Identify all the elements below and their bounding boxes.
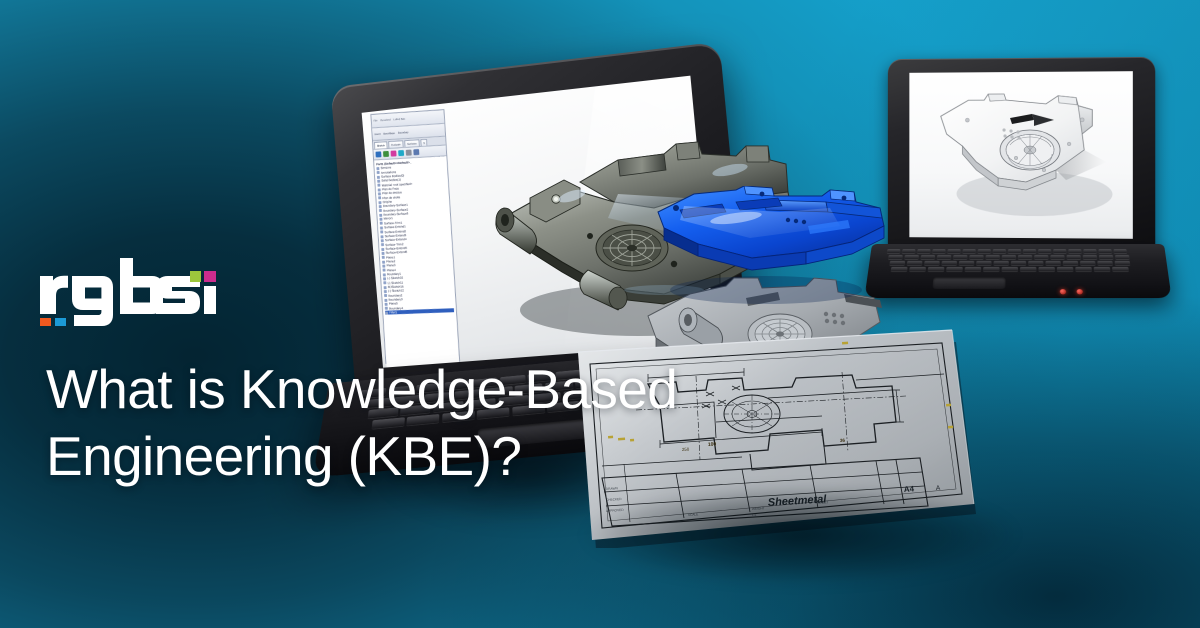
logo-square-blue <box>55 318 66 326</box>
keyboard-key <box>1115 255 1130 259</box>
keyboard-key <box>902 249 916 253</box>
logo-letter-r <box>40 276 68 314</box>
keyboard-key <box>976 261 991 265</box>
keyboard-key <box>907 261 923 265</box>
keyboard-key <box>978 249 991 253</box>
tab-surfaces[interactable]: Surfaces <box>404 139 420 147</box>
keyboard-key <box>953 255 967 259</box>
keyboard-key <box>1018 255 1032 259</box>
keyboard-key <box>1083 249 1096 253</box>
keyboard-key <box>1039 267 1056 271</box>
page-title: What is Knowledge-Based Engineering (KBE… <box>46 356 806 489</box>
cad-menu-item[interactable]: Boundary <box>398 131 409 135</box>
logo-letter-i-stem <box>204 286 216 314</box>
keyboard-key <box>1046 261 1061 265</box>
cad-menu-item[interactable]: Lofted Bas <box>393 118 405 122</box>
display-manager-icon[interactable] <box>406 150 412 156</box>
tab-more[interactable]: S <box>420 139 428 146</box>
keyboard-key <box>1020 267 1036 271</box>
keyboard-key <box>917 249 930 253</box>
cad-tree-item-label: Fillet1 <box>389 310 397 315</box>
keyboard-key <box>1098 249 1111 253</box>
secondary-laptop-trackpad <box>932 277 1005 289</box>
keyboard-key <box>946 267 963 271</box>
keyboard-key <box>1063 261 1078 265</box>
keyboard-key <box>921 255 936 259</box>
keyboard-key <box>1076 267 1093 271</box>
keyboard-key <box>1067 255 1081 259</box>
keyboard-key <box>986 255 1000 259</box>
keyboard-key <box>1028 261 1043 265</box>
keyboard-key <box>1080 261 1096 265</box>
keyboard-key <box>1094 267 1111 271</box>
cad-model-white-render <box>909 73 1132 239</box>
cad-feature-tree-list[interactable]: Part1 (Default<<Default>_SensorsAnnotati… <box>374 156 460 367</box>
logo-square-magenta <box>204 271 216 282</box>
appearance-icon[interactable] <box>413 149 419 155</box>
logo-square-orange <box>40 318 51 326</box>
keyboard-key <box>965 267 982 271</box>
page-title-line-2: Engineering (KBE)? <box>46 423 806 490</box>
keyboard-key <box>994 261 1009 265</box>
keyboard-key <box>1034 255 1048 259</box>
cad-feature-tree-panel[interactable]: File Revolved Lofted Bas Insert Boss/Bas… <box>370 109 460 364</box>
page-title-line-1: What is Knowledge-Based <box>46 356 806 423</box>
dimension-label: 36 <box>840 438 846 443</box>
keyboard-key <box>1115 261 1131 265</box>
keyboard-key <box>1023 249 1036 253</box>
cad-menu-item[interactable]: File <box>374 119 378 122</box>
tab-sketch[interactable]: Sketch <box>374 141 388 149</box>
keyboard-key <box>1068 249 1081 253</box>
keyboard-key <box>993 249 1006 253</box>
secondary-laptop-screen <box>909 71 1132 239</box>
cad-part-sheetmetal-blue <box>640 186 892 306</box>
keyboard-key <box>1112 267 1129 271</box>
keyboard-key <box>1099 255 1114 259</box>
keyboard-key <box>983 267 999 271</box>
keyboard-key <box>1113 249 1126 253</box>
banner-canvas: File Revolved Lofted Bas Insert Boss/Bas… <box>0 0 1200 628</box>
cad-menu-item[interactable]: Insert <box>374 132 380 135</box>
keyboard-key <box>937 255 951 259</box>
feature-tree-icon[interactable] <box>375 151 381 157</box>
keyboard-key <box>1057 267 1074 271</box>
keyboard-key <box>942 261 958 265</box>
keyboard-key <box>932 249 945 253</box>
keyboard-key <box>1002 267 1018 271</box>
keyboard-key <box>1083 255 1097 259</box>
configuration-manager-icon[interactable] <box>391 150 397 156</box>
cad-menu-item[interactable]: Revolved <box>380 119 390 123</box>
power-led-icon <box>1060 289 1067 294</box>
keyboard-key <box>1050 255 1064 259</box>
keyboard-key <box>1011 261 1026 265</box>
keyboard-key <box>1002 255 1016 259</box>
keyboard-key <box>963 249 976 253</box>
secondary-laptop-keyboard <box>884 249 1149 273</box>
keyboard-key <box>924 261 940 265</box>
keyboard-key <box>1097 261 1113 265</box>
cad-menu-item[interactable]: Boss/Base <box>383 131 395 135</box>
keyboard-key <box>1038 249 1051 253</box>
keyboard-key <box>1008 249 1021 253</box>
keyboard-key <box>928 267 945 271</box>
property-manager-icon[interactable] <box>383 151 389 157</box>
activity-led-icon <box>1076 289 1083 294</box>
tab-evaluate[interactable]: Evaluate <box>388 140 403 148</box>
keyboard-key <box>959 261 974 265</box>
keyboard-key <box>904 255 919 259</box>
logo-square-green <box>190 271 201 282</box>
dim-xpert-icon[interactable] <box>398 150 404 156</box>
keyboard-key <box>1053 249 1066 253</box>
logo-letter-g <box>72 276 113 326</box>
sheet-drop-shadow <box>520 470 1080 600</box>
secondary-laptop-lid <box>888 57 1155 255</box>
keyboard-key <box>891 267 908 271</box>
keyboard-key <box>947 249 960 253</box>
keyboard-key <box>969 255 983 259</box>
keyboard-key <box>910 267 927 271</box>
rgbsi-logo[interactable] <box>38 258 218 326</box>
